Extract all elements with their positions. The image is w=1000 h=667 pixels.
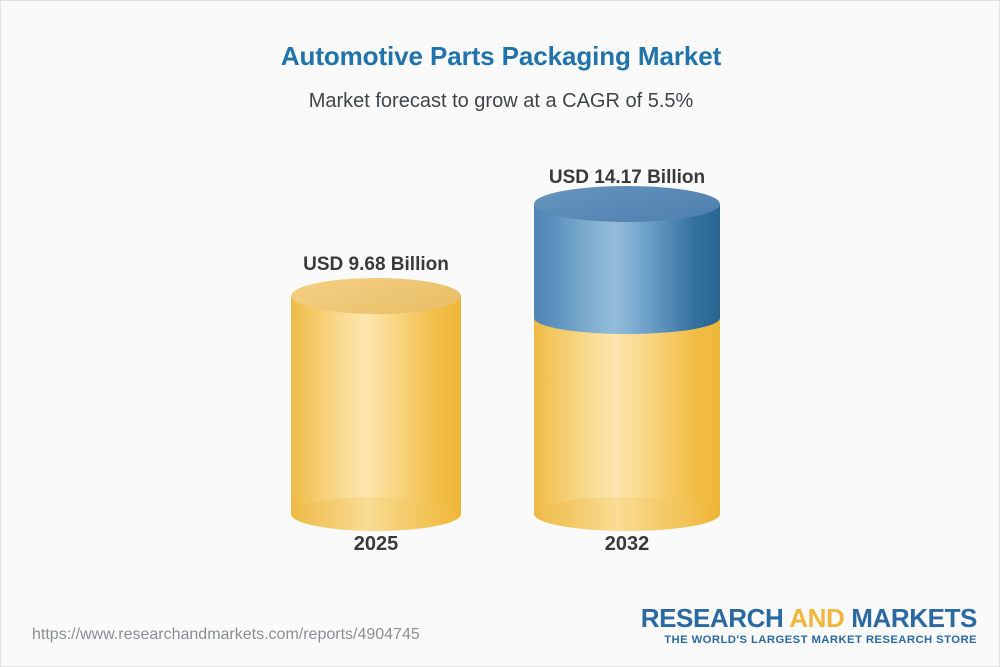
bar-segment-divider-2032 [534, 302, 720, 334]
chart-title: Automotive Parts Packaging Market [1, 41, 1000, 72]
bar-segment-base-2025 [291, 296, 461, 514]
source-url[interactable]: https://www.researchandmarkets.com/repor… [32, 626, 420, 644]
bar-bottom-cap-2032 [534, 497, 720, 531]
research-and-markets-logo[interactable]: RESEARCH AND MARKETS THE WORLD'S LARGEST… [641, 605, 977, 646]
bar-segment-base-2032 [534, 318, 720, 514]
bar-bottom-cap-2025 [291, 497, 461, 531]
chart-subtitle: Market forecast to grow at a CAGR of 5.5… [1, 90, 1000, 113]
bar-top-cap-2032 [534, 186, 720, 222]
year-label-2032: 2032 [467, 533, 787, 556]
chart-canvas: Automotive Parts Packaging Market Market… [0, 0, 1000, 667]
bar-cylinder-2032[interactable] [534, 204, 720, 514]
logo-tagline: THE WORLD'S LARGEST MARKET RESEARCH STOR… [641, 634, 977, 646]
logo-word-markets: MARKETS [851, 603, 977, 633]
logo-word-and: AND [783, 603, 851, 633]
bar-top-cap-2025 [291, 278, 461, 314]
logo-word-research: RESEARCH [641, 603, 784, 633]
bar-cylinder-2025[interactable] [291, 296, 461, 514]
logo-wordmark: RESEARCH AND MARKETS [641, 605, 977, 632]
value-label-2025: USD 9.68 Billion [216, 254, 536, 276]
